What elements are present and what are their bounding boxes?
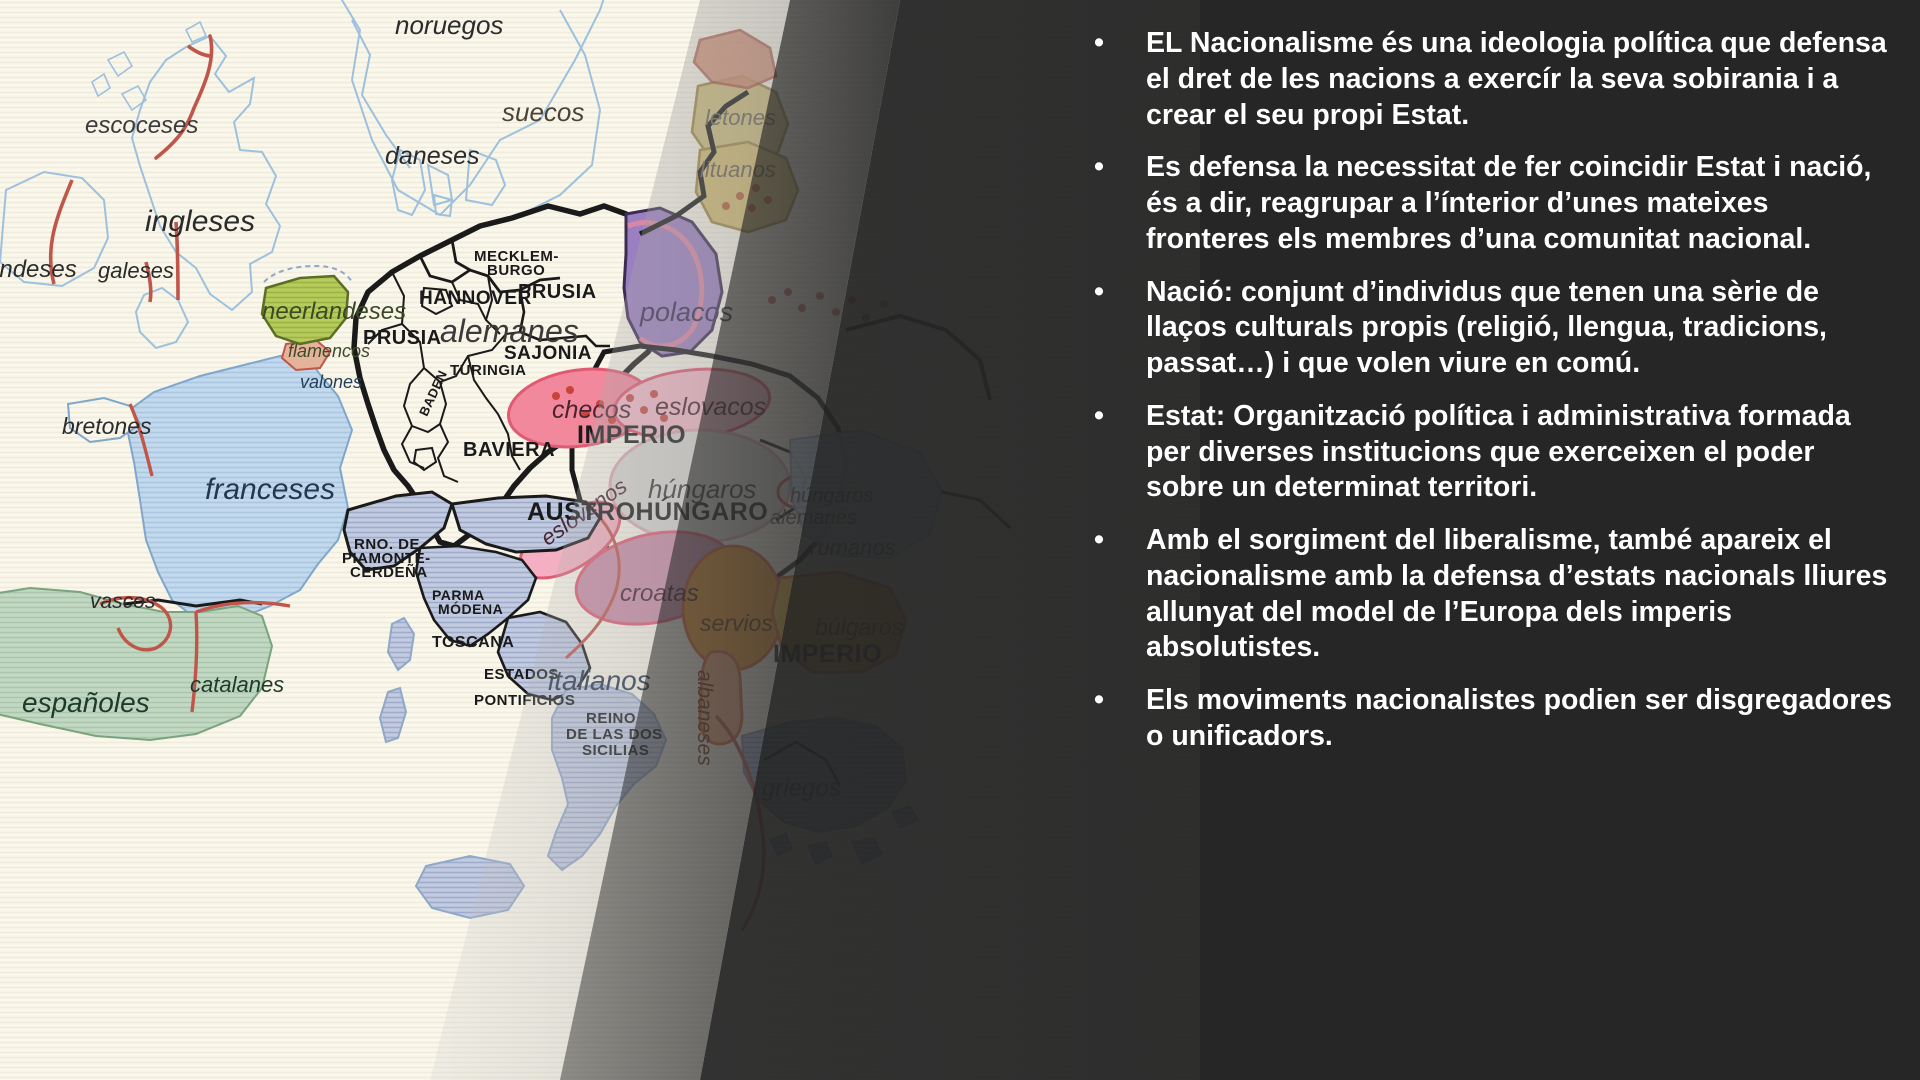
bullet-paragraph: •EL Nacionalisme és una ideologia políti…: [1120, 26, 1898, 133]
slide-root: noruegosescocesessuecosdanesesinglesesan…: [0, 0, 1920, 1080]
bullet-text: Amb el sorgiment del liberalisme, també …: [1146, 524, 1887, 663]
bullet-paragraph: •Estat: Organització política i administ…: [1120, 399, 1898, 506]
bullet-text-panel: •EL Nacionalisme és una ideologia políti…: [1120, 0, 1920, 1080]
bullet-text: Els moviments nacionalistes podien ser d…: [1146, 684, 1892, 752]
map-image: noruegosescocesessuecosdanesesinglesesan…: [0, 0, 1200, 1080]
bullet-paragraph: •Els moviments nacionalistes podien ser …: [1120, 683, 1898, 755]
bullet-icon: •: [1120, 399, 1146, 435]
map-vector-canvas: [0, 0, 1200, 1080]
bullet-text: Estat: Organització política i administr…: [1146, 400, 1851, 504]
bullet-paragraph: •Nació: conjunt d’individus que tenen un…: [1120, 275, 1898, 382]
bullet-paragraph: •Es defensa la necessitat de fer coincid…: [1120, 150, 1898, 257]
bullet-icon: •: [1120, 26, 1146, 62]
bullet-icon: •: [1120, 683, 1146, 719]
bullet-paragraph: •Amb el sorgiment del liberalisme, també…: [1120, 523, 1898, 666]
bullet-icon: •: [1120, 275, 1146, 311]
bullet-icon: •: [1120, 523, 1146, 559]
bullet-icon: •: [1120, 150, 1146, 186]
bullet-text: Nació: conjunt d’individus que tenen una…: [1146, 276, 1827, 380]
bullet-text: Es defensa la necessitat de fer coincidi…: [1146, 151, 1871, 255]
bullet-text: EL Nacionalisme és una ideologia polític…: [1146, 27, 1887, 131]
